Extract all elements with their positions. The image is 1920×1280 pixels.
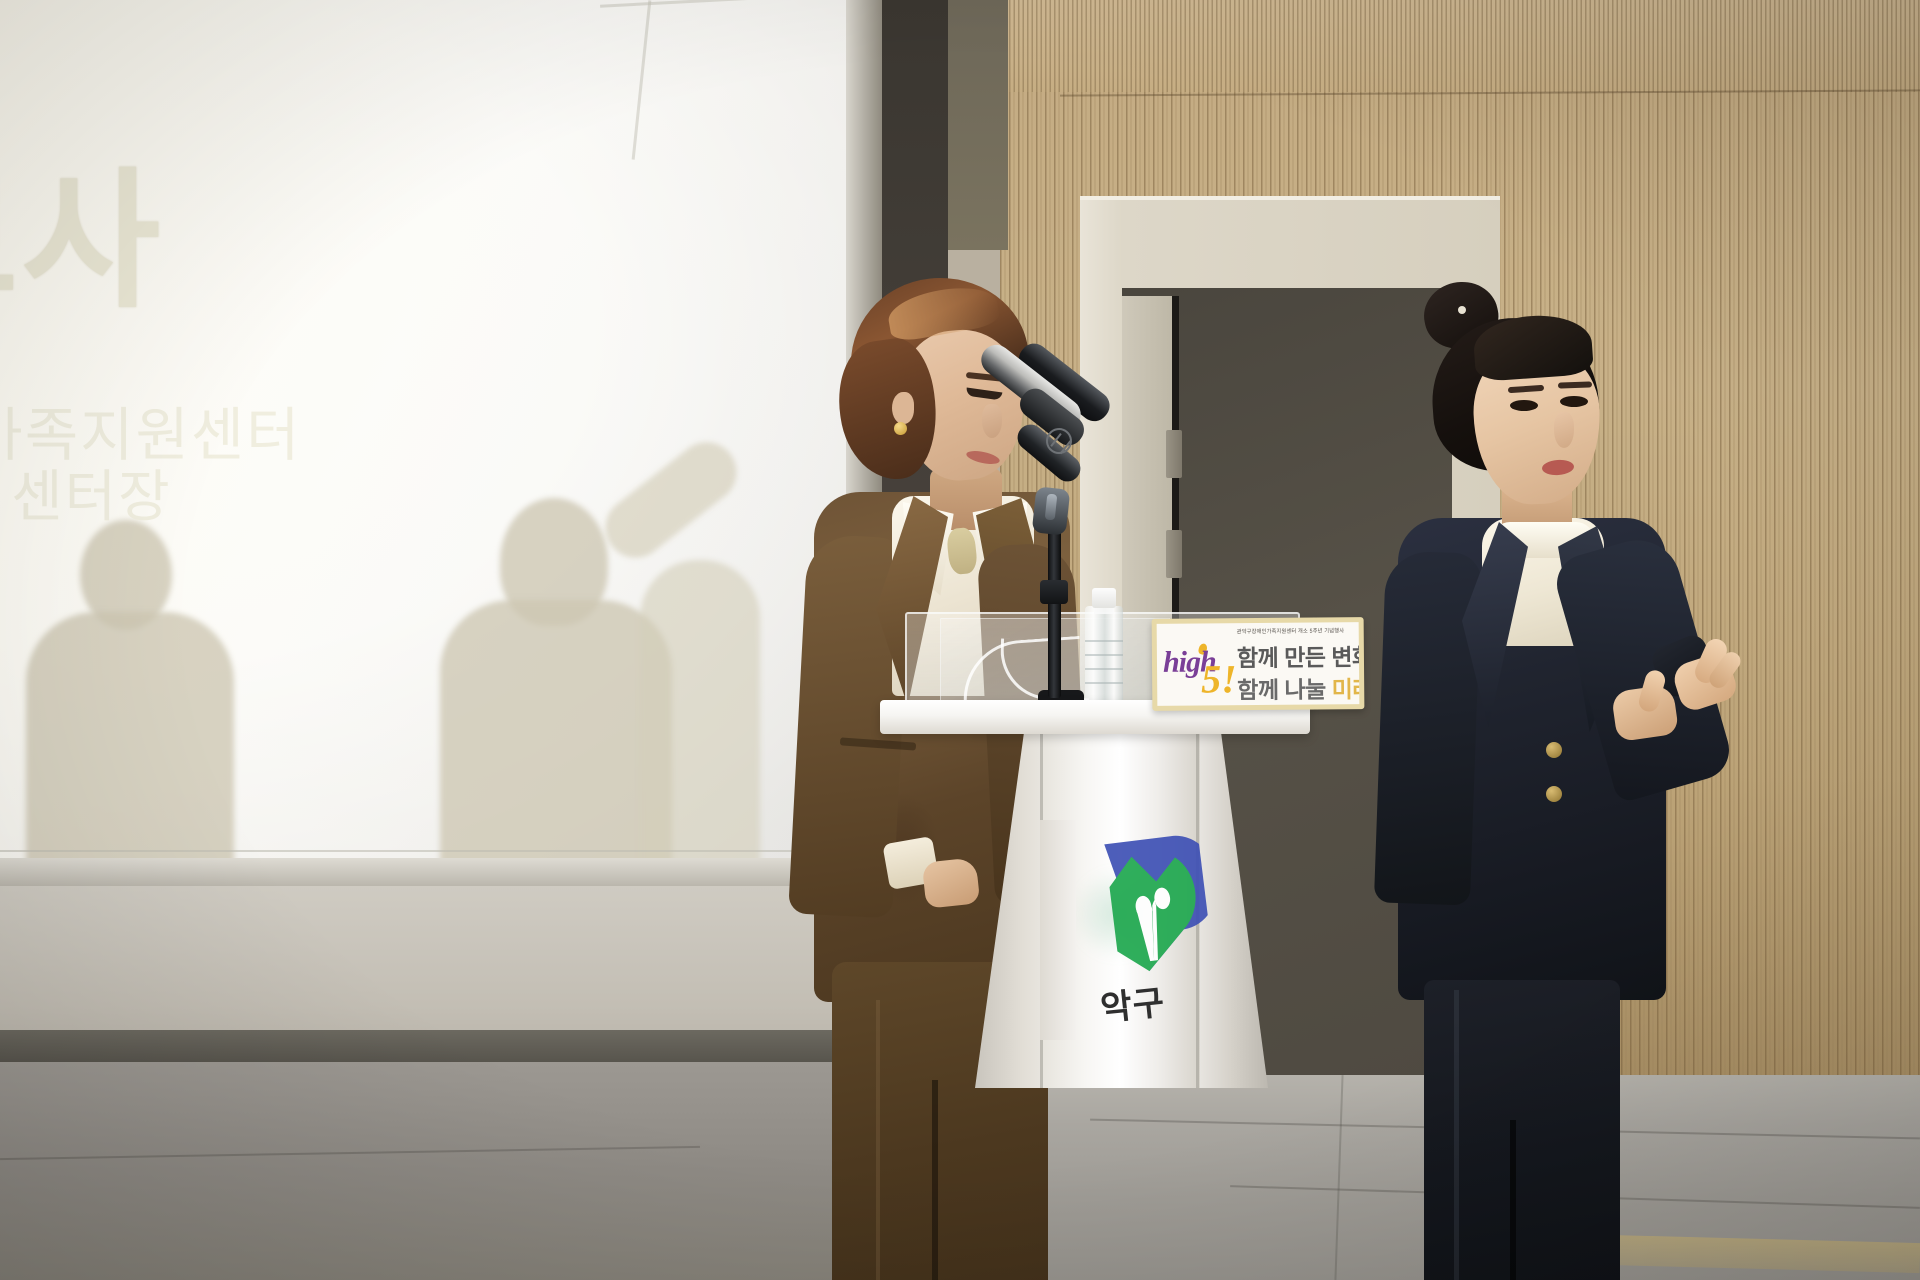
audience-shadow-silhouette [440, 600, 672, 900]
podium-sign-plate: high 5! 관악구장애인가족지원센터 개소 5주년 기념행사 함께 만든 변… [1152, 617, 1365, 711]
interpreter-trouser-split [1510, 1120, 1516, 1280]
speaker-trouser-split [932, 1080, 938, 1280]
sign-language-interpreter [1370, 290, 1720, 1280]
slide-name-line: 순 센터장 [0, 452, 172, 533]
high5-logo-five: 5! [1201, 655, 1237, 702]
speaker-hand [922, 857, 981, 908]
podium-sign-inner: high 5! 관악구장애인가족지원센터 개소 5주년 기념행사 함께 만든 변… [1157, 622, 1360, 706]
speaker-earring [894, 422, 907, 435]
interpreter-left-arm [1374, 550, 1482, 905]
audience-shadow-silhouette [640, 560, 760, 890]
interpreter-hair-pin [1458, 306, 1466, 314]
podium-sign-slogan-line1: 함께 만든 변화, [1237, 638, 1365, 673]
podium-sign-slogan-line2: 함께 나눌 미래 [1237, 670, 1364, 705]
interpreter-jacket-button [1546, 742, 1562, 758]
gwanak-gu-emblem-icon [1100, 833, 1213, 976]
speaker-ear [892, 392, 914, 424]
high5-logo: high 5! [1163, 641, 1230, 702]
bottle-cap[interactable] [1092, 588, 1116, 608]
interpreter-trouser-crease [1454, 990, 1459, 1280]
interpreter-jacket-button [1546, 786, 1562, 802]
podium-sign-microcopy: 관악구장애인가족지원센터 개소 5주년 기념행사 [1237, 627, 1363, 636]
speaker-trouser-crease [876, 1000, 880, 1280]
door-hinge-icon [1166, 530, 1182, 578]
speaker-nose [982, 404, 1002, 438]
screen-bottom-edge [0, 850, 860, 852]
microphone-stem [1048, 520, 1061, 698]
stage-floor-left [0, 1062, 840, 1280]
bottle-ridge [1085, 654, 1123, 656]
water-bottle[interactable] [1085, 606, 1123, 710]
interpreter-eyebrow-right [1558, 381, 1592, 388]
slide-title-text: 보사 [0, 120, 164, 337]
slogan-line2-gray: 함께 나눌 [1237, 676, 1332, 703]
interpreter-nose [1554, 412, 1574, 448]
wood-wall-top-band [1000, 0, 1920, 92]
screen-bottom-frame [0, 858, 880, 888]
dark-wall-strip-upper [948, 0, 1008, 250]
door-hinge-icon [1166, 430, 1182, 478]
podium-edge-mask [1040, 820, 1076, 1040]
bottle-ridge [1085, 682, 1123, 684]
interpreter-eye-left [1510, 400, 1538, 411]
interpreter-eye-right [1560, 396, 1588, 407]
microphone-collar [1040, 580, 1068, 604]
bottle-ridge [1085, 668, 1123, 670]
photo-scene: 보사 인가족지원센터 순 센터장 [0, 0, 1920, 1280]
slogan-line2-gold: 미래 [1332, 676, 1365, 702]
